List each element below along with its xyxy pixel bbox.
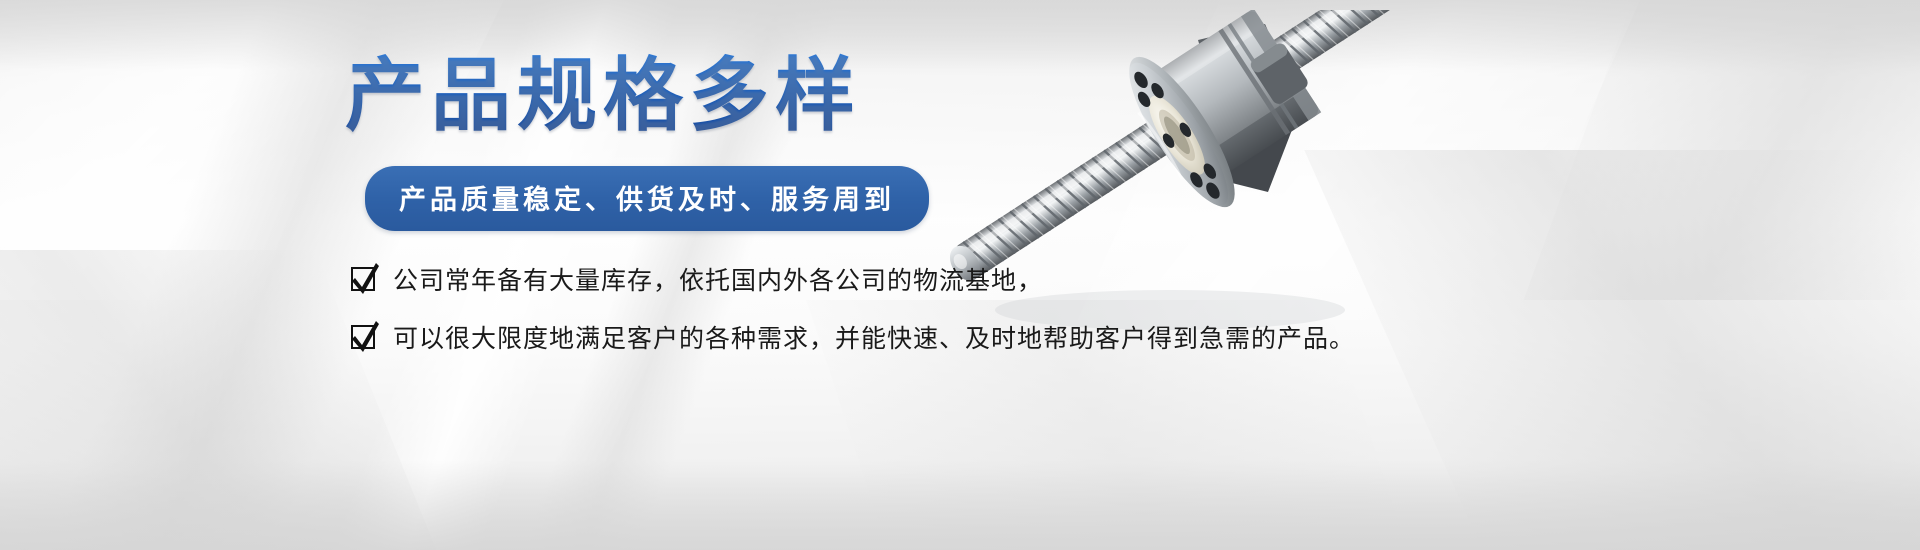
checkbox-checked-icon <box>349 264 379 294</box>
tagline-badge: 产品质量稳定、供货及时、服务周到 <box>365 166 929 231</box>
list-item-label: 公司常年备有大量库存，依托国内外各公司的物流基地， <box>393 261 1043 297</box>
list-item-label: 可以很大限度地满足客户的各种需求，并能快速、及时地帮助客户得到急需的产品。 <box>393 319 1355 355</box>
list-item: 可以很大限度地满足客户的各种需求，并能快速、及时地帮助客户得到急需的产品。 <box>349 319 1325 355</box>
list-item: 公司常年备有大量库存，依托国内外各公司的物流基地， <box>349 261 1325 297</box>
banner-content: 产品规格多样 产品质量稳定、供货及时、服务周到 公司常年备有大量库存，依托国内外… <box>345 52 1325 377</box>
checkbox-checked-icon <box>349 322 379 352</box>
page-title: 产品规格多样 <box>345 52 1325 142</box>
feature-list: 公司常年备有大量库存，依托国内外各公司的物流基地， 可以很大限度地满足客户的各种… <box>349 261 1325 355</box>
product-spec-banner: 产品规格多样 产品质量稳定、供货及时、服务周到 公司常年备有大量库存，依托国内外… <box>0 0 1920 550</box>
